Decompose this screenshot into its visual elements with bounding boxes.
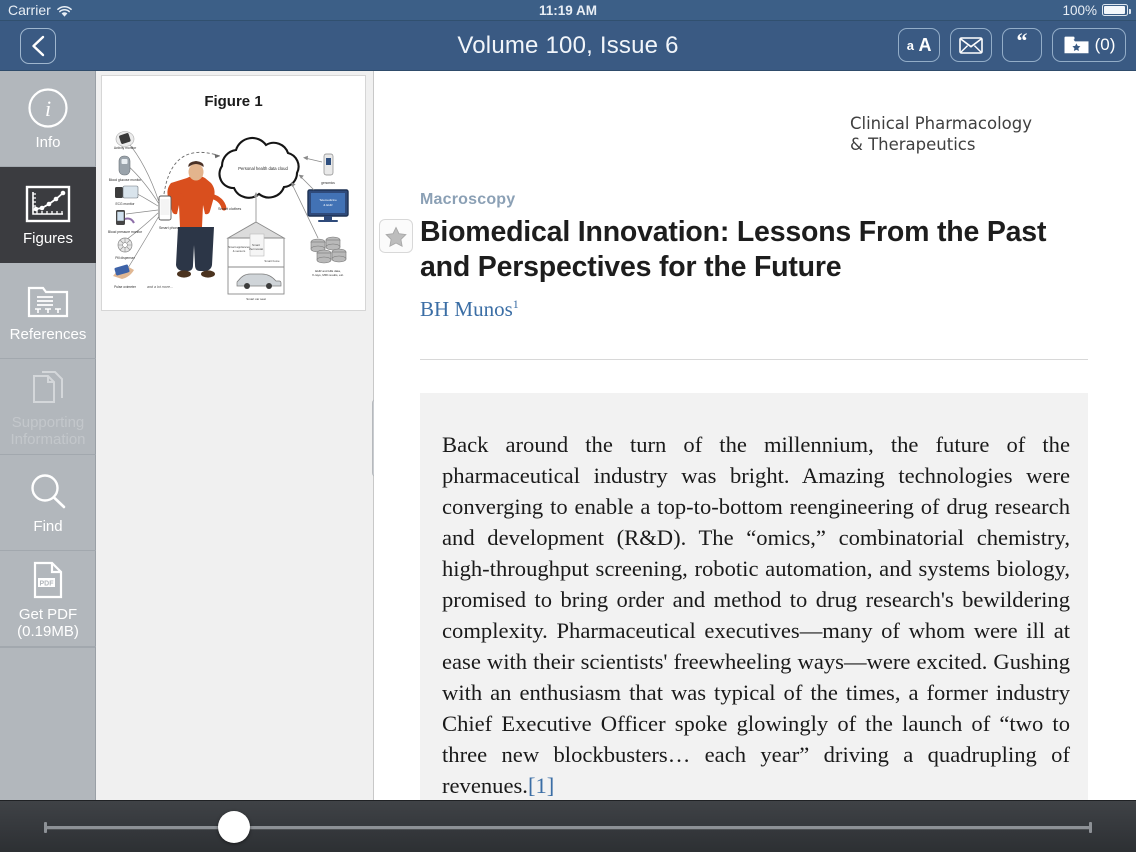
svg-text:Smart clothes: Smart clothes <box>218 207 241 211</box>
pdf-file-icon: PDF <box>30 557 66 603</box>
magnifier-icon <box>27 469 69 515</box>
citation-button[interactable]: “ <box>1002 28 1042 62</box>
ipad-journal-reader: Carrier 11:19 AM 100% Volume 100, Issue … <box>0 0 1136 852</box>
page-scrubber-bar[interactable] <box>0 800 1136 852</box>
reference-link-1[interactable]: [1] <box>528 773 554 798</box>
page-title: Biomedical Innovation: Lessons From the … <box>420 215 1088 285</box>
svg-text:genomics: genomics <box>321 181 335 185</box>
status-bar-clock: 11:19 AM <box>0 3 1136 18</box>
svg-text:Blood pressure monitor: Blood pressure monitor <box>108 230 143 234</box>
figure-title: Figure 1 <box>102 93 365 110</box>
author-name: BH Munos <box>420 297 513 321</box>
quote-icon: “ <box>1017 30 1028 52</box>
article-body-paragraph: Back around the turn of the millennium, … <box>442 429 1070 800</box>
text-size-button[interactable]: aA <box>898 28 940 62</box>
article-authors[interactable]: BH Munos1 <box>420 297 519 322</box>
svg-text:Smart car seat: Smart car seat <box>246 297 266 301</box>
svg-text:Telemedicine: Telemedicine <box>319 198 337 202</box>
bookmark-article-button[interactable] <box>379 219 413 253</box>
svg-text:PDF: PDF <box>40 580 55 587</box>
author-affiliation-marker[interactable]: 1 <box>513 297 519 311</box>
star-icon <box>385 226 407 247</box>
battery-icon <box>1102 4 1128 16</box>
saved-articles-button[interactable]: (0) <box>1052 28 1126 62</box>
references-folder-icon <box>26 277 70 323</box>
article-content: Clinical Pharmacology & Therapeutics Mac… <box>374 71 1136 800</box>
sidebar-item-find[interactable]: Find <box>0 455 96 551</box>
sidebar-item-get-pdf[interactable]: PDF Get PDF (0.19MB) <box>0 551 96 647</box>
journal-name-line1: Clinical Pharmacology <box>850 113 1032 134</box>
chart-figure-icon <box>25 181 71 227</box>
article-section-kicker: Macroscopy <box>420 191 515 209</box>
svg-text:Blood glucose monitor: Blood glucose monitor <box>109 178 143 182</box>
documents-stack-icon <box>28 365 68 411</box>
sidebar-item-info[interactable]: i Info <box>0 71 96 167</box>
folder-star-icon <box>1063 35 1090 55</box>
sidebar-item-label: References <box>7 327 90 344</box>
navigation-bar: Volume 100, Issue 6 aA “ <box>0 21 1136 71</box>
sidebar-item-label: Get PDF (0.19MB) <box>0 607 96 641</box>
sidebar-item-label: Figures <box>20 231 76 248</box>
svg-text:i: i <box>45 96 51 121</box>
sidebar-item-label: Find <box>30 519 65 536</box>
scrubber-track-end-cap <box>1089 822 1092 833</box>
saved-articles-count: (0) <box>1095 35 1116 55</box>
envelope-icon <box>959 37 983 54</box>
svg-text:Smart phone: Smart phone <box>159 226 180 230</box>
body-text: Back around the turn of the millennium, … <box>442 432 1070 798</box>
text-size-large-label: A <box>919 35 932 56</box>
info-circle-icon: i <box>27 85 69 131</box>
sidebar-item-label: Info <box>32 135 63 152</box>
sidebar-tab-rail: i Info Figures <box>0 71 96 800</box>
svg-text:Smart home: Smart home <box>264 259 280 263</box>
svg-text:Personal health data cloud: Personal health data cloud <box>238 166 288 171</box>
sidebar-item-references[interactable]: References <box>0 263 96 359</box>
figure-image: Personal health data cloud Smart clothes <box>102 118 367 308</box>
svg-text:thermostat: thermostat <box>249 247 263 251</box>
navbar-actions: aA “ (0) <box>898 28 1126 62</box>
svg-text:ECG monitor: ECG monitor <box>115 202 135 206</box>
journal-name: Clinical Pharmacology & Therapeutics <box>850 113 1032 155</box>
status-bar-right: 100% <box>1062 3 1128 18</box>
status-bar: Carrier 11:19 AM 100% <box>0 0 1136 21</box>
svg-text:Pulse oximeter: Pulse oximeter <box>114 285 137 289</box>
header-divider <box>420 359 1088 360</box>
svg-text:& sensors: & sensors <box>233 249 246 253</box>
battery-percent-label: 100% <box>1062 3 1097 18</box>
sidebar-item-supporting-information[interactable]: Supporting Information <box>0 359 96 455</box>
sidebar-empty-space <box>0 647 95 800</box>
text-size-small-label: a <box>907 38 914 53</box>
article-body-panel: Back around the turn of the millennium, … <box>420 393 1088 800</box>
figures-panel: Figure 1 Personal health data cloud <box>96 71 374 800</box>
figure-thumbnail-card[interactable]: Figure 1 Personal health data cloud <box>101 75 366 311</box>
scrubber-handle[interactable] <box>218 811 250 843</box>
svg-text:and a lot more...: and a lot more... <box>147 285 173 289</box>
svg-text:Pill dispenser: Pill dispenser <box>115 256 136 260</box>
email-button[interactable] <box>950 28 992 62</box>
svg-text:& EHR: & EHR <box>323 203 333 207</box>
sidebar-item-label: Supporting Information <box>0 415 96 449</box>
svg-text:X-rays, MRI results, etc.: X-rays, MRI results, etc. <box>312 273 344 277</box>
svg-text:Activity monitor: Activity monitor <box>114 146 137 150</box>
journal-name-line2: & Therapeutics <box>850 134 1032 155</box>
scrubber-track[interactable] <box>46 826 1090 829</box>
sidebar-item-figures[interactable]: Figures <box>0 167 96 263</box>
